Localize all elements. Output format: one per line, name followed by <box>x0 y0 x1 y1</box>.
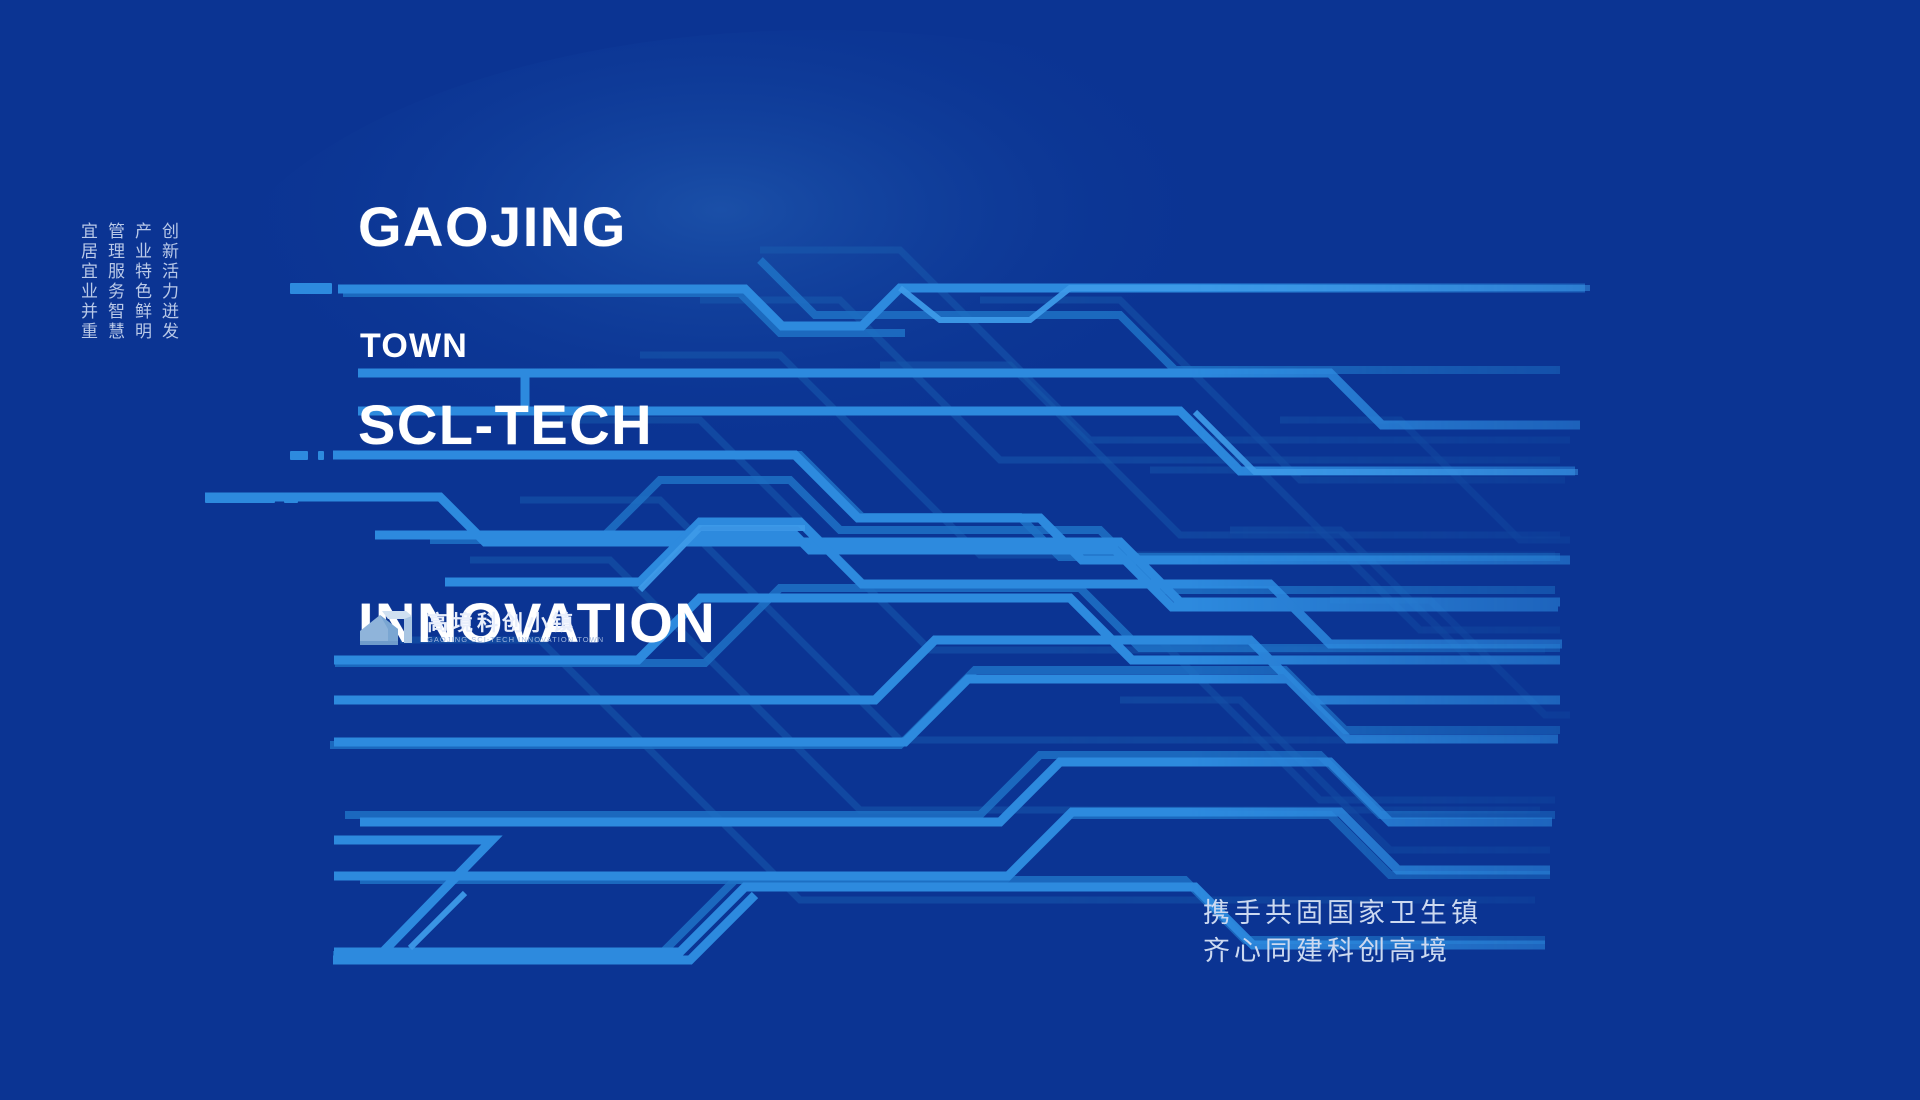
logo-name-en: GAOJING SCI-TECH INNOVATION TOWN <box>427 636 604 644</box>
bottom-slogan: 携手共固国家卫生镇 齐心同建科创高境 <box>1203 895 1482 971</box>
vertical-slogan-column-2: 产业特色鲜明 <box>132 222 149 342</box>
bottom-slogan-line-1: 携手共固国家卫生镇 <box>1203 895 1482 933</box>
brand-logo: 高境科创小镇 GAOJING SCI-TECH INNOVATION TOWN <box>358 607 604 649</box>
headline-subtitle-town: TOWN <box>360 327 468 366</box>
circuit-trace-background <box>0 0 1920 1100</box>
page-title: GAOJING SCL-TECH INNOVATION <box>358 62 716 788</box>
logo-name-cn: 高境科创小镇 <box>427 613 604 634</box>
vertical-slogan: 创新活力迸发 产业特色鲜明 管理服务智慧 宜居宜业并重 <box>78 222 176 342</box>
poster-canvas: GAOJING SCL-TECH INNOVATION TOWN 创新活力迸发 … <box>0 0 1920 1100</box>
vertical-slogan-column-4: 宜居宜业并重 <box>78 222 95 342</box>
logo-text-block: 高境科创小镇 GAOJING SCI-TECH INNOVATION TOWN <box>427 613 604 644</box>
vertical-slogan-column-3: 管理服务智慧 <box>105 222 122 342</box>
headline-line-2: SCL-TECH <box>358 392 716 458</box>
house-building-icon <box>358 607 416 649</box>
bottom-slogan-line-2: 齐心同建科创高境 <box>1203 933 1482 971</box>
vertical-slogan-column-1: 创新活力迸发 <box>159 222 176 342</box>
headline-line-1: GAOJING <box>358 194 716 260</box>
